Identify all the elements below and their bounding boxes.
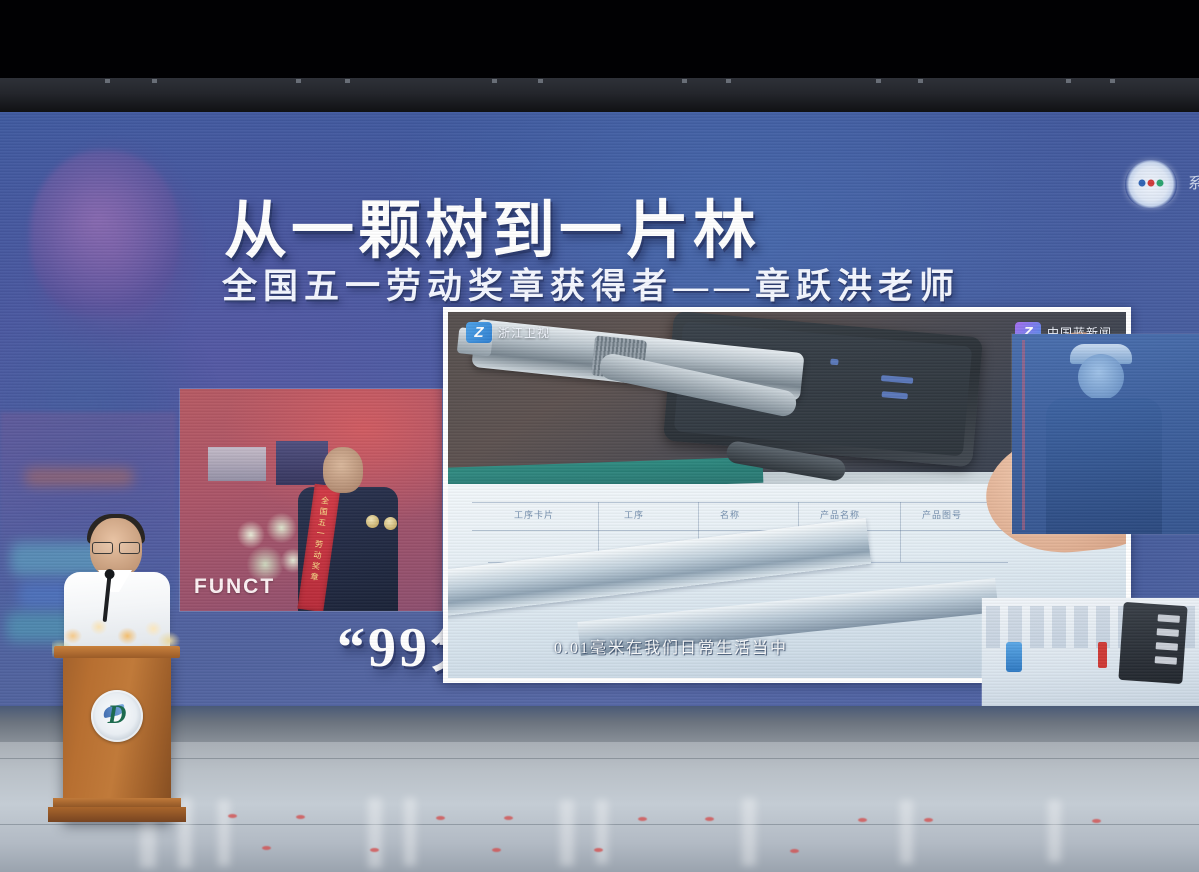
speaking-podium: D: [63, 654, 171, 822]
slide-subtitle: 全国五一劳动奖章获得者——章跃洪老师: [222, 258, 960, 309]
worker-portrait-photo: [1012, 334, 1199, 534]
lighting-truss-band: [0, 78, 1199, 112]
ceiling-blackout: [0, 0, 1199, 80]
stage-scene: 系 从一颗树到一片林 全国五一劳动奖章获得者——章跃洪老师 “99分就是不及格品…: [0, 0, 1199, 872]
doc-col-1: 工序: [624, 508, 644, 521]
photo-overlay-text: FUNCT: [194, 575, 275, 599]
emblem-wordmark: 系: [1188, 172, 1199, 193]
stage-wall: [0, 706, 1199, 746]
doc-col-4: 产品图号: [922, 508, 962, 521]
zhejiang-tv-label: 浙江卫视: [498, 324, 550, 341]
award-ceremony-photo: 全国五一劳动奖章 FUNCT: [180, 389, 442, 611]
video-subtitle: 0.01毫米在我们日常生活当中: [554, 634, 788, 658]
workbench-photo: [982, 598, 1199, 706]
doc-col-2: 名称: [720, 508, 740, 521]
doc-title: 工序卡片: [514, 508, 554, 521]
podium-emblem-glyph: D: [108, 702, 127, 728]
organization-emblem-icon: [1125, 160, 1177, 208]
zhejiang-tv-logo-icon: Z: [466, 322, 492, 343]
eyeglasses-icon: [92, 542, 140, 552]
podium-emblem-icon: D: [91, 690, 143, 742]
tv-station-bug-left: Z 浙江卫视: [466, 322, 550, 343]
